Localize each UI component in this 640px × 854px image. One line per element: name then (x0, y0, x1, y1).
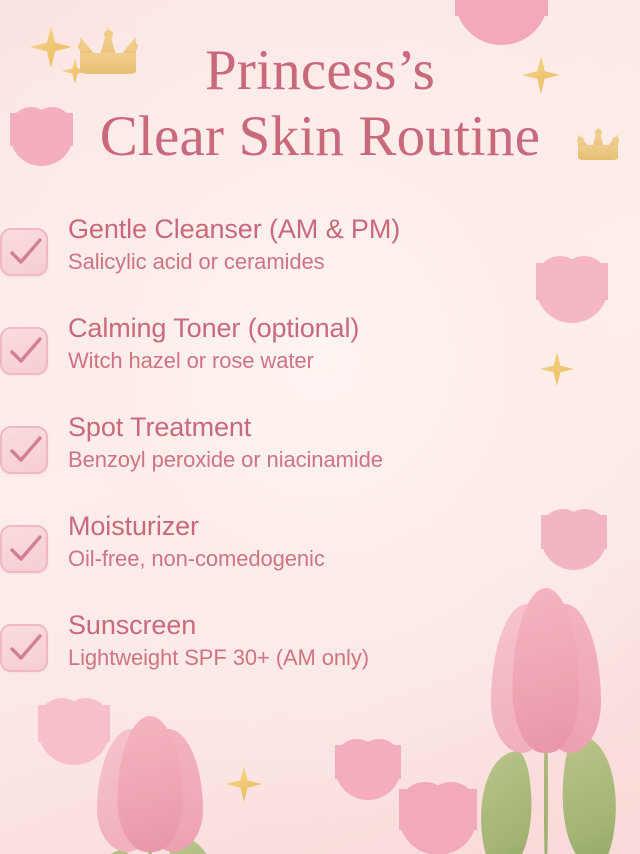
checkbox-gentle-cleanser[interactable] (0, 228, 48, 276)
checklist-item-subtitle: Benzoyl peroxide or niacinamide (68, 446, 640, 475)
tulip-flower-bottom-left (92, 716, 208, 854)
checklist-item-title: Gentle Cleanser (AM & PM) (68, 214, 640, 245)
checkbox-moisturizer[interactable] (0, 525, 48, 573)
heart-icon-bottom-center (346, 744, 390, 788)
page-title-line-1: Princess’s (0, 38, 640, 104)
checklist-item[interactable]: Moisturizer Oil-free, non-comedogenic (0, 511, 640, 610)
heart-icon-top-right-cut (470, 0, 532, 28)
checklist-item-title: Moisturizer (68, 511, 640, 542)
checklist-item[interactable]: Sunscreen Lightweight SPF 30+ (AM only) (0, 610, 640, 709)
checkbox-spot-treatment[interactable] (0, 426, 48, 474)
checklist-item[interactable]: Calming Toner (optional) Witch hazel or … (0, 313, 640, 412)
sparkle-icon-bottom-left (226, 766, 262, 802)
heart-icon-bottom-right (412, 788, 464, 840)
checklist-item-title: Sunscreen (68, 610, 640, 641)
check-icon (9, 238, 43, 268)
checkbox-sunscreen[interactable] (0, 624, 48, 672)
heart-icon-bottom-left (50, 704, 98, 752)
check-icon (9, 535, 43, 565)
checklist-item-subtitle: Witch hazel or rose water (68, 347, 640, 376)
poster-canvas: Princess’s Clear Skin Routine Gentle Cle… (0, 0, 640, 854)
check-icon (9, 337, 43, 367)
page-title: Princess’s Clear Skin Routine (0, 38, 640, 170)
page-title-line-2: Clear Skin Routine (0, 104, 640, 170)
check-icon (9, 436, 43, 466)
checklist-item-title: Spot Treatment (68, 412, 640, 443)
checklist-item-subtitle: Salicylic acid or ceramides (68, 248, 640, 277)
checklist-item-title: Calming Toner (optional) (68, 313, 640, 344)
checklist-item[interactable]: Gentle Cleanser (AM & PM) Salicylic acid… (0, 214, 640, 313)
check-icon (9, 634, 43, 664)
checklist-item-subtitle: Oil-free, non-comedogenic (68, 545, 640, 574)
checklist-item[interactable]: Spot Treatment Benzoyl peroxide or niaci… (0, 412, 640, 511)
checkbox-calming-toner[interactable] (0, 327, 48, 375)
routine-checklist: Gentle Cleanser (AM & PM) Salicylic acid… (0, 214, 640, 709)
checklist-item-subtitle: Lightweight SPF 30+ (AM only) (68, 644, 640, 673)
